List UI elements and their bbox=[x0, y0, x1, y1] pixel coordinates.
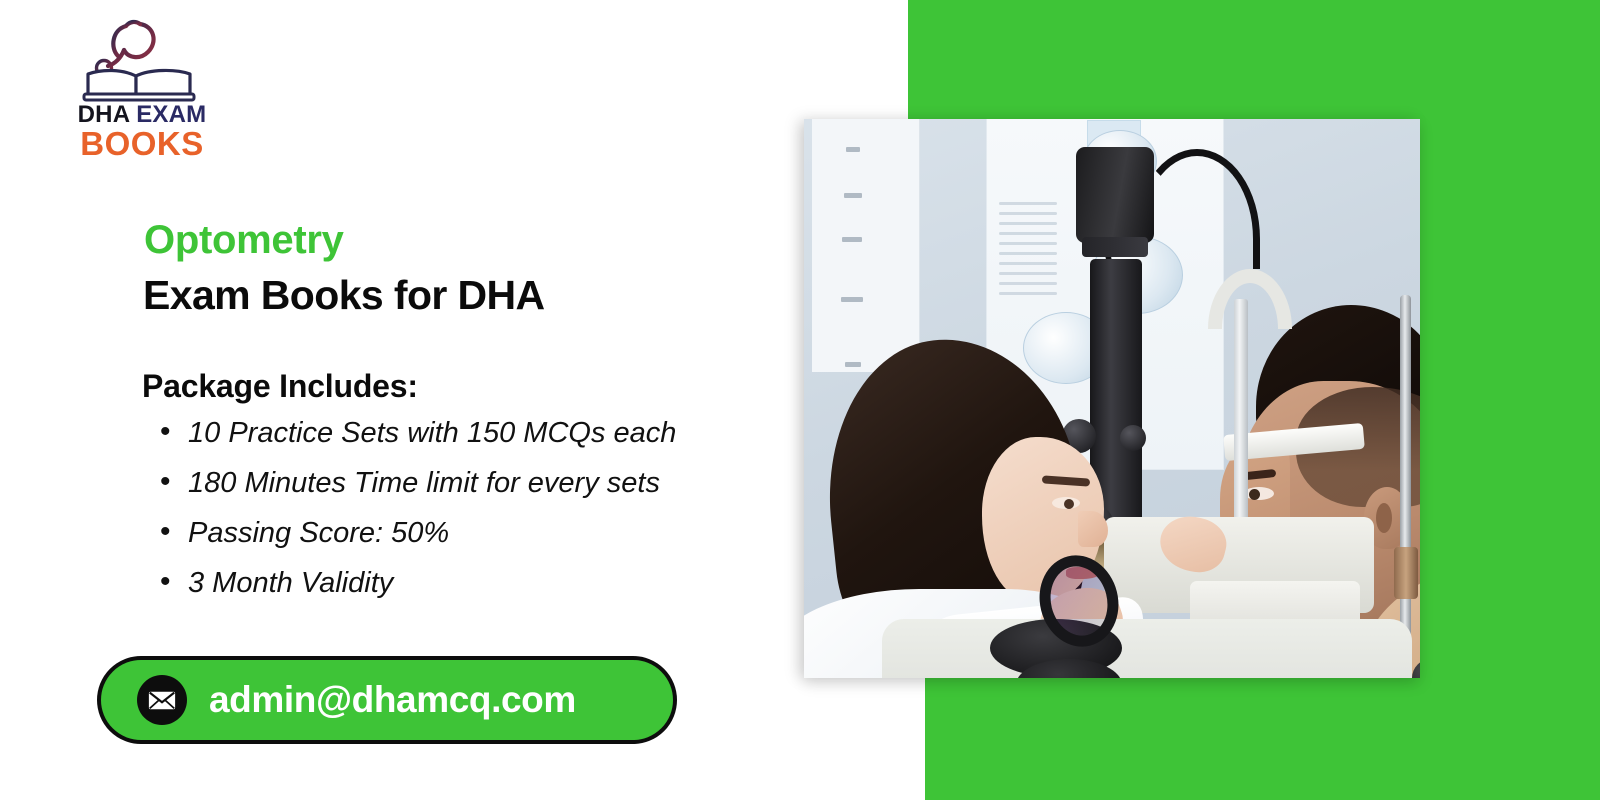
logo-line-1: DHA EXAM bbox=[62, 102, 222, 127]
examination-table bbox=[882, 619, 1412, 678]
optometrist-nose bbox=[1078, 511, 1108, 547]
page-kicker: Optometry bbox=[144, 218, 344, 263]
email-contact-button[interactable]: admin@dhamcq.com bbox=[97, 656, 677, 744]
eye-chart-poster bbox=[812, 119, 920, 372]
list-item: Passing Score: 50% bbox=[158, 512, 676, 554]
package-includes-label: Package Includes: bbox=[142, 368, 418, 405]
poster-text-lines bbox=[999, 202, 1057, 342]
logo-books: BOOKS bbox=[62, 127, 222, 162]
optometrist-eye bbox=[1052, 497, 1080, 509]
list-item: 180 Minutes Time limit for every sets bbox=[158, 462, 676, 504]
logo-dha: DHA bbox=[78, 101, 130, 128]
logo-wordmark: DHA EXAM BOOKS bbox=[62, 102, 222, 162]
list-item: 3 Month Validity bbox=[158, 562, 676, 604]
clinic-photo-scene bbox=[804, 119, 1420, 678]
poster-canvas: DHA EXAM BOOKS Optometry Exam Books for … bbox=[0, 0, 1600, 800]
email-address: admin@dhamcq.com bbox=[209, 679, 576, 721]
green-block-bottom bbox=[925, 678, 1600, 800]
page-title: Exam Books for DHA bbox=[143, 272, 545, 319]
support-rod-1 bbox=[1400, 295, 1411, 678]
logo-exam: EXAM bbox=[136, 101, 206, 128]
clinic-photo bbox=[804, 119, 1420, 678]
envelope-icon bbox=[137, 675, 187, 725]
logo[interactable]: DHA EXAM BOOKS bbox=[62, 10, 222, 160]
book-stethoscope-icon bbox=[74, 10, 204, 102]
list-item: 10 Practice Sets with 150 MCQs each bbox=[158, 412, 676, 454]
package-includes-list: 10 Practice Sets with 150 MCQs each 180 … bbox=[158, 412, 676, 612]
patient-eye bbox=[1244, 487, 1274, 500]
slit-lamp-knob-2 bbox=[1120, 425, 1146, 451]
support-rod-collar bbox=[1394, 547, 1418, 599]
slit-lamp-head bbox=[1076, 147, 1154, 243]
